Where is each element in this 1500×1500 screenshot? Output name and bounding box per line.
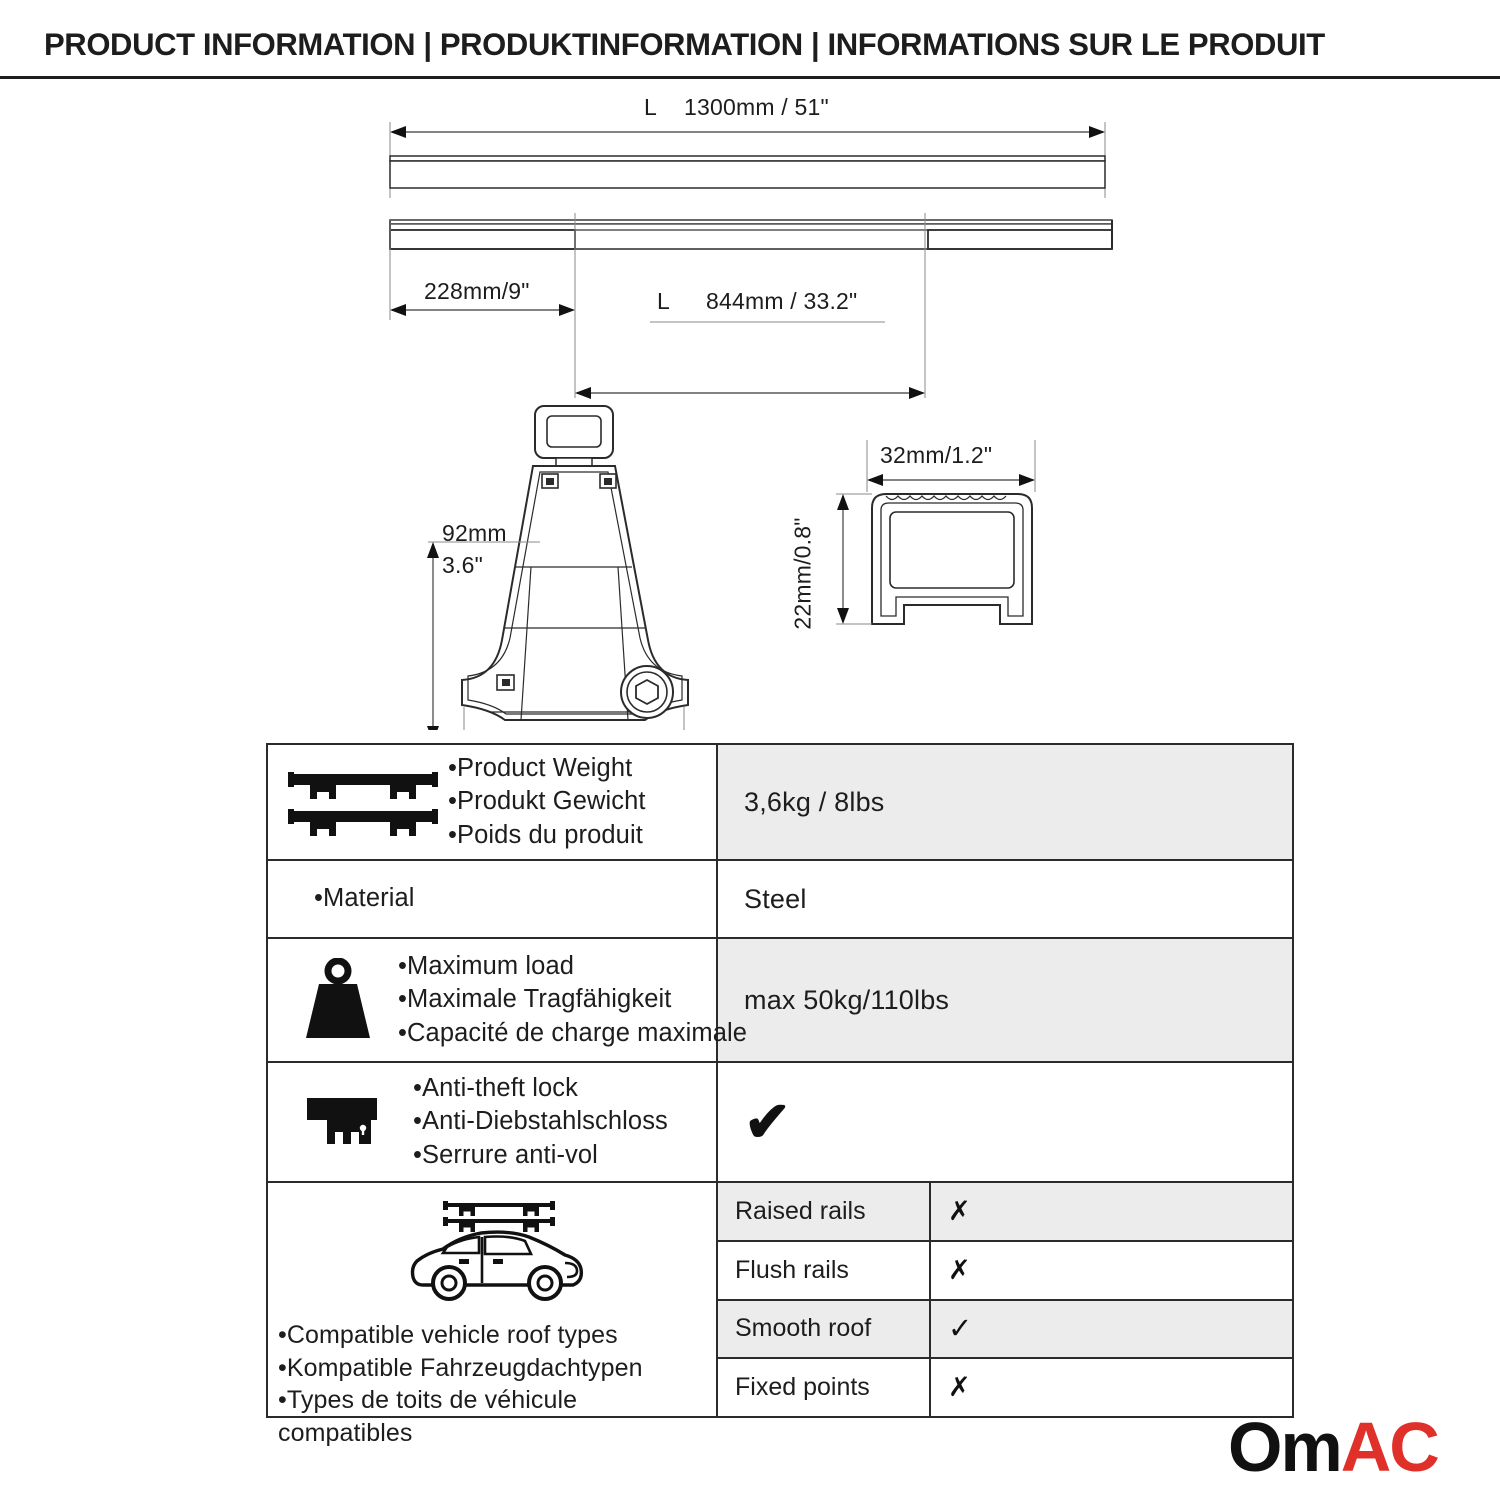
logo-text-dark: Om <box>1228 1408 1341 1486</box>
technical-drawing: L 1300mm / 51" <box>0 80 1500 730</box>
table-row: •Product Weight •Produkt Gewicht •Poids … <box>268 745 1292 861</box>
compat-label-de: •Kompatible Fahrzeugdachtypen <box>278 1352 643 1385</box>
roof-types-table: Raised rails ✗ Flush rails ✗ Smooth roof… <box>718 1183 1292 1416</box>
table-row: •Material Steel <box>268 861 1292 939</box>
specification-table: •Product Weight •Produkt Gewicht •Poids … <box>266 743 1294 1418</box>
table-row: •Maximum load •Maximale Tragfähigkeit •C… <box>268 939 1292 1063</box>
spec-labels: •Anti-theft lock •Anti-Diebstahlschloss … <box>413 1072 668 1171</box>
compatibility-label-cell: •Compatible vehicle roof types •Kompatib… <box>268 1183 718 1416</box>
roof-type-row: Fixed points ✗ <box>718 1359 1292 1416</box>
header-divider <box>0 76 1500 79</box>
table-row-compatibility: •Compatible vehicle roof types •Kompatib… <box>268 1183 1292 1416</box>
lock-icon <box>278 1092 413 1152</box>
roof-type-value: ✗ <box>931 1183 1292 1240</box>
roof-type-value: ✗ <box>931 1242 1292 1299</box>
roof-type-value: ✓ <box>931 1301 1292 1358</box>
logo-text-red: AC <box>1341 1408 1438 1486</box>
checkmark-icon: ✔ <box>744 1094 791 1150</box>
spec-label-en: •Maximum load <box>398 950 747 983</box>
span-dimension: 844mm / 33.2" <box>706 288 857 315</box>
profile-height-dimension: 22mm/0.8" <box>790 517 817 629</box>
roof-type-row: Smooth roof ✓ <box>718 1301 1292 1360</box>
roof-type-name: Fixed points <box>718 1359 931 1416</box>
spec-value-material: Steel <box>718 861 1292 937</box>
compat-label-en: •Compatible vehicle roof types <box>278 1319 643 1352</box>
spec-label-material: •Material <box>314 882 415 915</box>
spec-value-weight: 3,6kg / 8lbs <box>718 745 1292 859</box>
spec-label-fr: •Serrure anti-vol <box>413 1139 668 1172</box>
spec-label-fr: •Capacité de charge maximale <box>398 1017 747 1050</box>
roof-type-row: Raised rails ✗ <box>718 1183 1292 1242</box>
spec-value-max-load: max 50kg/110lbs <box>718 939 1292 1061</box>
profile-width-dimension: 32mm/1.2" <box>880 442 992 469</box>
crossbars-icon <box>278 766 448 838</box>
compat-label-fr-cont: compatibles <box>278 1417 643 1450</box>
spec-label-cell: •Product Weight •Produkt Gewicht •Poids … <box>268 745 718 859</box>
product-information-sheet: PRODUCT INFORMATION | PRODUKTINFORMATION… <box>0 0 1500 1500</box>
foot-offset-dimension: 228mm/9" <box>424 278 530 305</box>
spec-label-de: •Maximale Tragfähigkeit <box>398 983 747 1016</box>
spec-label-cell: •Material <box>268 861 718 937</box>
table-row: •Anti-theft lock •Anti-Diebstahlschloss … <box>268 1063 1292 1183</box>
spec-labels: •Maximum load •Maximale Tragfähigkeit •C… <box>398 950 747 1049</box>
spec-label-en: •Product Weight <box>448 752 646 785</box>
roof-type-name: Flush rails <box>718 1242 931 1299</box>
spec-label-cell: •Maximum load •Maximale Tragfähigkeit •C… <box>268 939 718 1061</box>
tower-height-mm: 92mm <box>442 520 507 547</box>
spec-value-anti-theft: ✔ <box>718 1063 1292 1181</box>
roof-type-name: Raised rails <box>718 1183 931 1240</box>
spec-label-en: •Anti-theft lock <box>413 1072 668 1105</box>
tower-height-in: 3.6" <box>442 552 483 579</box>
spec-labels: •Product Weight •Produkt Gewicht •Poids … <box>448 752 646 851</box>
spec-label-de: •Anti-Diebstahlschloss <box>413 1105 668 1138</box>
compatibility-labels: •Compatible vehicle roof types •Kompatib… <box>278 1319 643 1449</box>
roof-type-name: Smooth roof <box>718 1301 931 1358</box>
page-title: PRODUCT INFORMATION | PRODUKTINFORMATION… <box>44 26 1443 63</box>
spec-label-fr: •Poids du produit <box>448 819 646 852</box>
weight-icon <box>278 958 398 1042</box>
compat-label-fr: •Types de toits de véhicule <box>278 1384 643 1417</box>
spec-label-cell: •Anti-theft lock •Anti-Diebstahlschloss … <box>268 1063 718 1181</box>
span-prefix: L <box>657 288 670 315</box>
spec-label-de: •Produkt Gewicht <box>448 785 646 818</box>
spec-labels: •Material <box>314 882 415 915</box>
drawing-svg <box>0 80 1500 730</box>
car-with-roofbars-icon <box>278 1197 716 1305</box>
roof-type-row: Flush rails ✗ <box>718 1242 1292 1301</box>
omac-logo: OmAC <box>1228 1412 1438 1482</box>
